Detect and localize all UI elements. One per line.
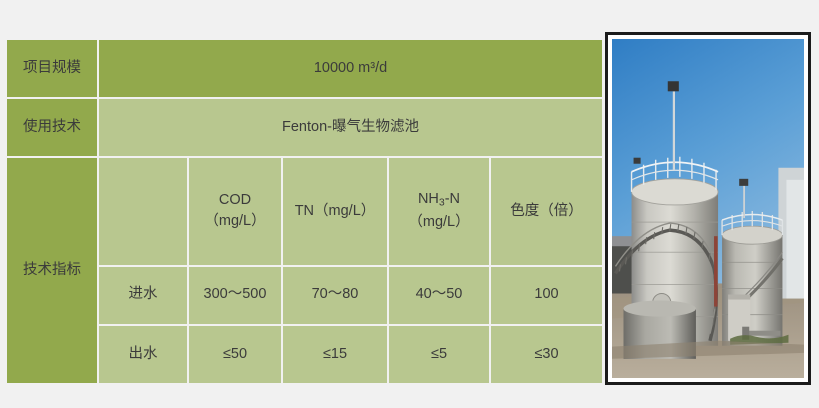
indicator-header-tn-name: TN（mg/L） [295, 203, 376, 219]
project-photo-frame [605, 32, 811, 385]
indicator-header-nh3n-name: NH3-N [418, 191, 460, 207]
table-row-technology: 使用技术 Fenton-曝气生物滤池 [7, 99, 602, 156]
table-row-project-scale: 项目规模 10000 m³/d [7, 40, 602, 97]
value-technology: Fenton-曝气生物滤池 [99, 99, 602, 156]
indicator-header-nh3n-unit: （mg/L） [408, 214, 469, 230]
indicator-header-chroma-name: 色度（倍） [510, 203, 583, 219]
cell-influent-chroma: 100 [491, 267, 602, 324]
indicator-header-nh3n: NH3-N （mg/L） [389, 158, 489, 265]
indicator-header-cod-name: COD [219, 192, 251, 208]
indicator-header-cod-unit: （mg/L） [204, 213, 265, 229]
table-row-indicator-header: 技术指标 COD （mg/L） TN（mg/L） NH3-N （mg/L） 色度… [7, 158, 602, 265]
cell-influent-nh3n: 40～50 [389, 267, 489, 324]
cell-effluent-nh3n: ≤5 [389, 326, 489, 383]
project-specification-table: 项目规模 10000 m³/d 使用技术 Fenton-曝气生物滤池 技术指标 … [5, 38, 604, 385]
row-label-technical-indicators: 技术指标 [7, 158, 97, 383]
project-photo [612, 39, 804, 378]
row-label-technology: 使用技术 [7, 99, 97, 156]
cell-effluent-chroma: ≤30 [491, 326, 602, 383]
indicator-header-tn: TN（mg/L） [283, 158, 387, 265]
cell-effluent-tn: ≤15 [283, 326, 387, 383]
indicator-header-chroma: 色度（倍） [491, 158, 602, 265]
cell-influent-tn: 70～80 [283, 267, 387, 324]
row-label-project-scale: 项目规模 [7, 40, 97, 97]
indicator-header-blank [99, 158, 187, 265]
row-label-effluent: 出水 [99, 326, 187, 383]
value-project-scale: 10000 m³/d [99, 40, 602, 97]
cell-influent-cod: 300～500 [189, 267, 281, 324]
indicator-header-cod: COD （mg/L） [189, 158, 281, 265]
cell-effluent-cod: ≤50 [189, 326, 281, 383]
storage-tanks-illustration [612, 39, 804, 378]
row-label-influent: 进水 [99, 267, 187, 324]
